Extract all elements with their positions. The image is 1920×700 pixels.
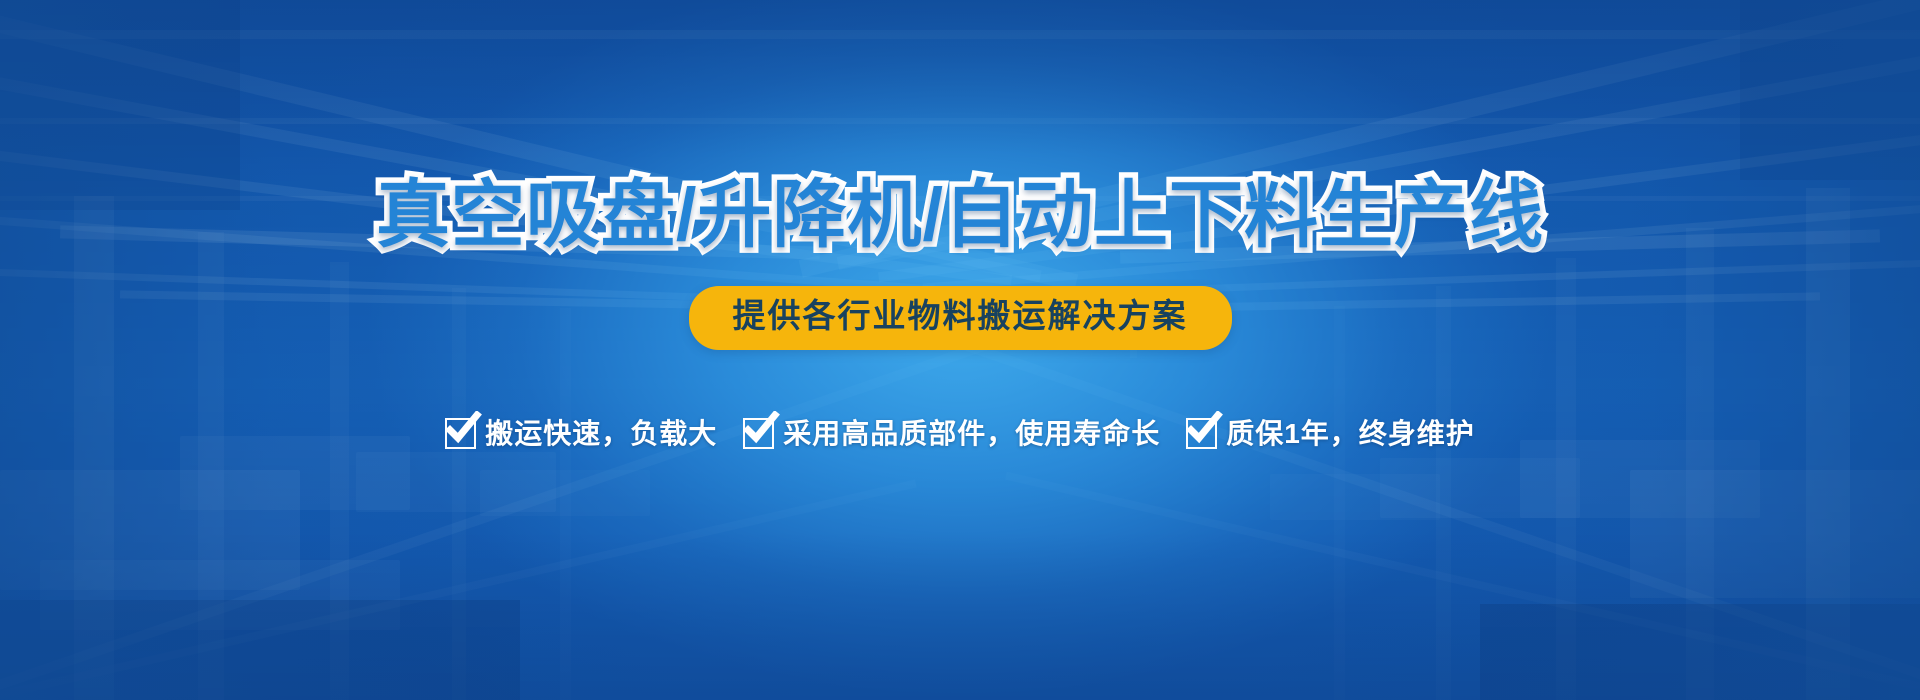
feature-label: 质保1年，终身维护: [1226, 420, 1475, 448]
feature-list: 搬运快速，负载大 采用高品质部件，使用寿命长 质保1年，终身维护: [0, 418, 1920, 449]
subtitle-badge: 提供各行业物料搬运解决方案: [689, 286, 1232, 350]
feature-item: 采用高品质部件，使用寿命长: [743, 418, 1160, 449]
feature-item: 搬运快速，负载大: [445, 418, 717, 449]
subtitle-badge-wrap: 提供各行业物料搬运解决方案: [0, 286, 1920, 350]
banner-headline: 真空吸盘/升降机/自动上下料生产线: [0, 178, 1920, 252]
checkbox-checked-icon: [743, 418, 774, 449]
feature-label: 采用高品质部件，使用寿命长: [783, 420, 1160, 448]
feature-item: 质保1年，终身维护: [1186, 418, 1475, 449]
checkbox-checked-icon: [445, 418, 476, 449]
checkbox-checked-icon: [1186, 418, 1217, 449]
banner-content: 真空吸盘/升降机/自动上下料生产线 提供各行业物料搬运解决方案 搬运快速，负载大: [0, 0, 1920, 700]
feature-label: 搬运快速，负载大: [485, 420, 717, 448]
hero-banner: 真空吸盘/升降机/自动上下料生产线 提供各行业物料搬运解决方案 搬运快速，负载大: [0, 0, 1920, 700]
